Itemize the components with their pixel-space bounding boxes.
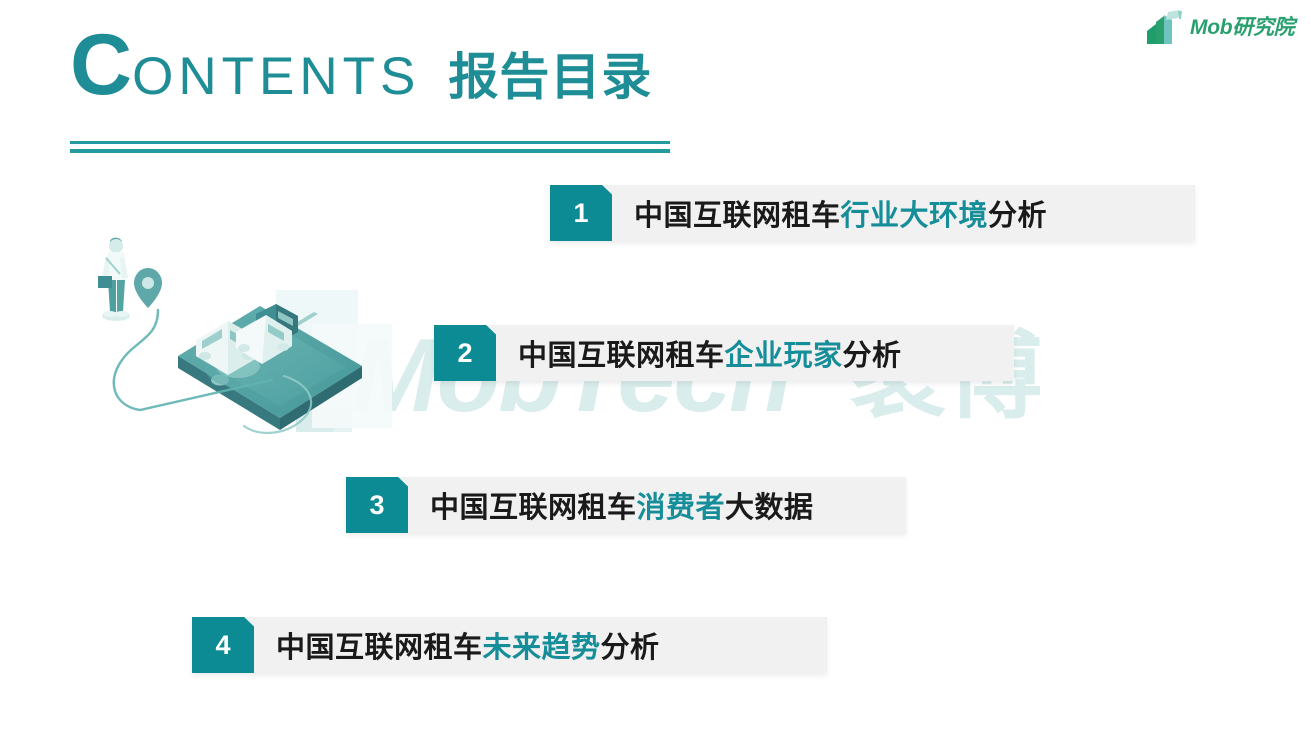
contents-item-2-number: 2	[434, 325, 496, 381]
contents-item-1-prefix: 中国互联网租车	[634, 192, 841, 234]
contents-item-2-label: 中国互联网租车企业玩家分析	[496, 325, 902, 381]
contents-item-3-label: 中国互联网租车消费者大数据	[408, 477, 814, 533]
contents-item-2-prefix: 中国互联网租车	[518, 332, 725, 374]
contents-item-3-prefix: 中国互联网租车	[430, 484, 637, 526]
contents-item-1-suffix: 分析	[988, 192, 1047, 234]
contents-item-3-number: 3	[346, 477, 408, 533]
contents-item-4-prefix: 中国互联网租车	[276, 624, 483, 666]
contents-item-1[interactable]: 1 中国互联网租车行业大环境分析	[550, 185, 1047, 241]
contents-item-3[interactable]: 3 中国互联网租车消费者大数据	[346, 477, 814, 533]
contents-item-2-highlight: 企业玩家	[725, 332, 843, 374]
contents-item-4-number: 4	[192, 617, 254, 673]
slide-root: Mob研究院 C ONTENTS 报告目录 MobTech 袤博	[0, 0, 1311, 730]
contents-item-2[interactable]: 2 中国互联网租车企业玩家分析	[434, 325, 902, 381]
contents-item-3-highlight: 消费者	[637, 484, 726, 526]
contents-item-3-suffix: 大数据	[725, 484, 814, 526]
contents-item-1-highlight: 行业大环境	[841, 192, 989, 234]
contents-item-2-suffix: 分析	[843, 332, 902, 374]
contents-item-4[interactable]: 4 中国互联网租车未来趋势分析	[192, 617, 660, 673]
contents-item-4-suffix: 分析	[601, 624, 660, 666]
contents-item-1-label: 中国互联网租车行业大环境分析	[612, 185, 1047, 241]
contents-item-4-label: 中国互联网租车未来趋势分析	[254, 617, 660, 673]
contents-item-1-number: 1	[550, 185, 612, 241]
contents-list: 1 中国互联网租车行业大环境分析 2 中国互联网租车企业玩家分析 3 中国互联网…	[0, 0, 1311, 730]
contents-item-4-highlight: 未来趋势	[483, 624, 601, 666]
